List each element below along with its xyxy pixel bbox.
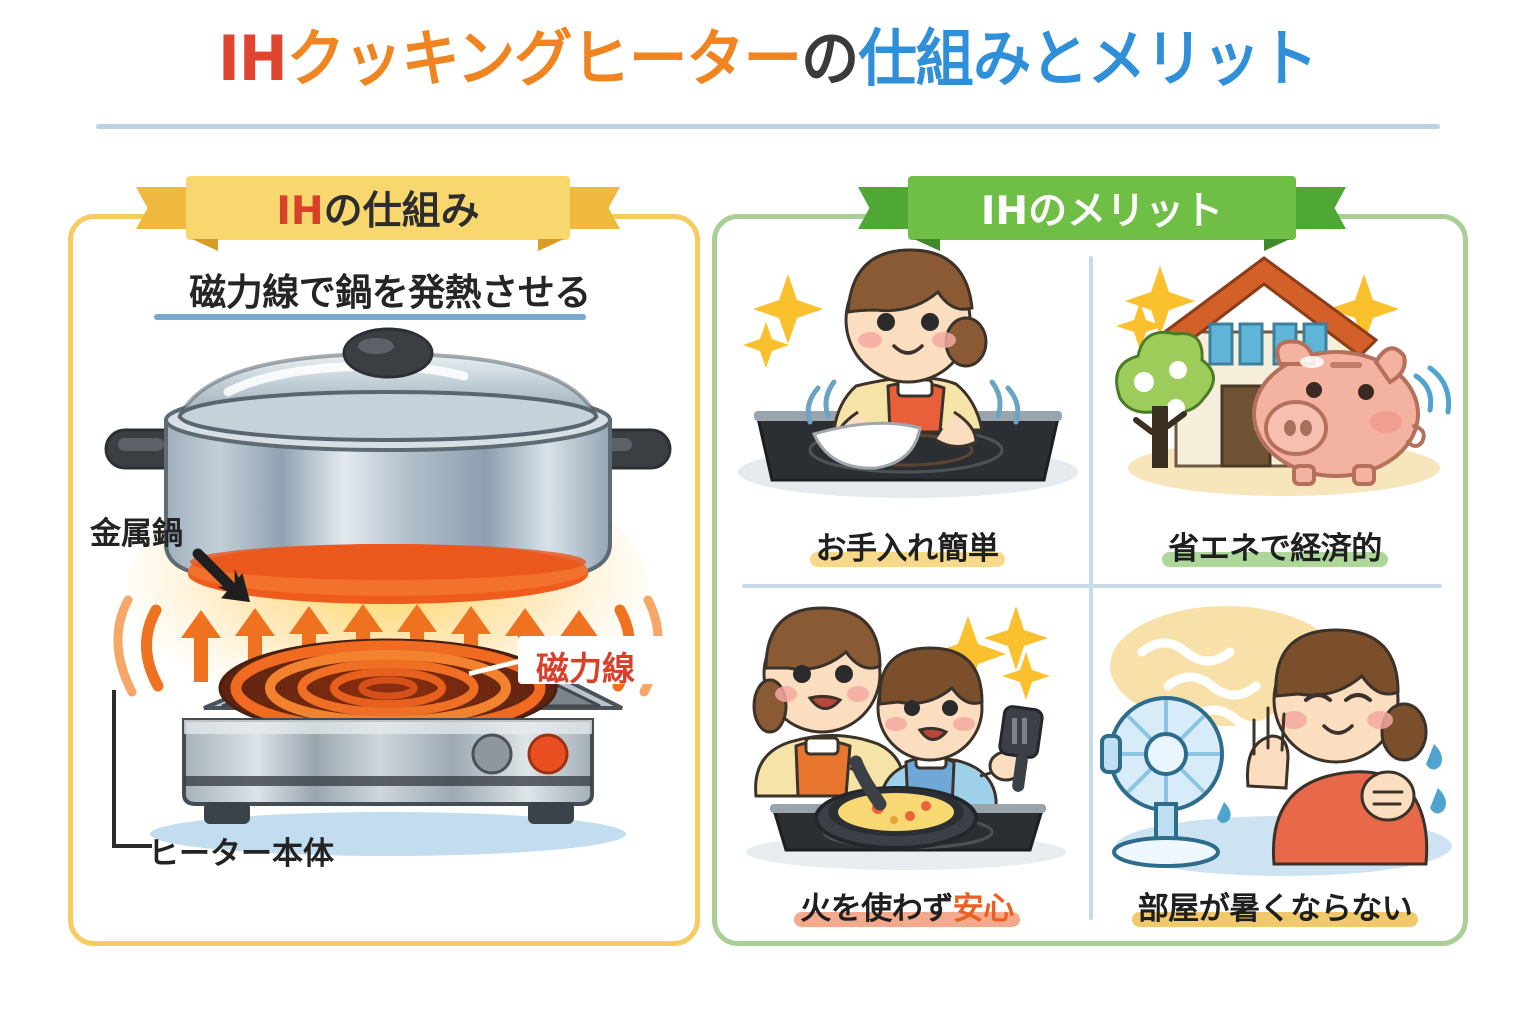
merit-caption-room-stays-cool: 部屋が暑くならない [1098, 883, 1452, 928]
ribbon-tail-right [1294, 187, 1346, 229]
merit-card-room-stays-cool: 部屋が暑くならない [1098, 596, 1452, 936]
banner-mechanism-rest: の仕組み [324, 189, 480, 234]
art-woman-wiping-cooktop [730, 236, 1084, 508]
title-part-mechanism-merit: 仕組みとメリット [859, 22, 1318, 95]
title-part-no: の [801, 22, 858, 95]
title-part-ih: IH [218, 22, 287, 95]
title-part-cooking-heater: クッキングヒーター [287, 22, 801, 95]
heater-power-button [529, 735, 567, 773]
merit-card-easy-care: お手入れ簡単 [730, 236, 1084, 576]
art-house-with-piggy-bank [1098, 236, 1452, 508]
heater-body-bracket [112, 690, 152, 848]
woman-figure [834, 250, 986, 450]
metal-pot-arrow-icon [196, 548, 254, 606]
banner-merits: IHのメリット [908, 176, 1296, 240]
merit-card-no-flame-safe: 火を使わず安心 [730, 596, 1084, 936]
merit-caption-no-flame-safe: 火を使わず安心 [730, 883, 1084, 928]
child-figure [878, 648, 1022, 808]
banner-mechanism-ih: IH [276, 189, 323, 234]
ribbon-tail-left [858, 187, 910, 229]
mechanism-subtitle: 磁力線で鍋を発熱させる [150, 262, 630, 316]
title-divider-rule [96, 124, 1440, 129]
merit-caption-easy-care: お手入れ簡単 [730, 523, 1084, 568]
ribbon-tail-left [136, 187, 188, 229]
art-parent-and-child-cooking [730, 596, 1084, 868]
quadrant-divider-vertical [1089, 256, 1093, 920]
label-heater-body: ヒーター本体 [148, 828, 334, 873]
merit-card-energy-saving: 省エネで経済的 [1098, 236, 1452, 576]
page-title: IHクッキングヒーターの仕組みとメリット [0, 26, 1536, 91]
ribbon-body: IHのメリット [908, 176, 1296, 240]
ribbon-tail-right [568, 187, 620, 229]
infographic-page: IHクッキングヒーターの仕組みとメリット IHの仕組み 磁力線で鍋を発熱させる [0, 0, 1536, 1024]
ih-mechanism-illustration [88, 336, 688, 856]
banner-mechanism-text: IHの仕組み [276, 180, 479, 236]
merit-caption-energy-saving: 省エネで経済的 [1098, 523, 1452, 568]
art-woman-with-electric-fan [1098, 596, 1452, 868]
metal-pot [106, 329, 670, 604]
label-magnetic-lines: 磁力線 [536, 642, 635, 690]
mechanism-subtitle-underline [154, 314, 586, 320]
heater-knob [473, 735, 511, 773]
label-metal-pot: 金属鍋 [90, 508, 183, 553]
banner-merits-text: IHのメリット [981, 180, 1223, 236]
quadrant-divider-horizontal [742, 584, 1442, 588]
banner-mechanism: IHの仕組み [186, 176, 570, 240]
ribbon-body: IHの仕組み [186, 176, 570, 240]
sparkle-icon [743, 274, 823, 368]
